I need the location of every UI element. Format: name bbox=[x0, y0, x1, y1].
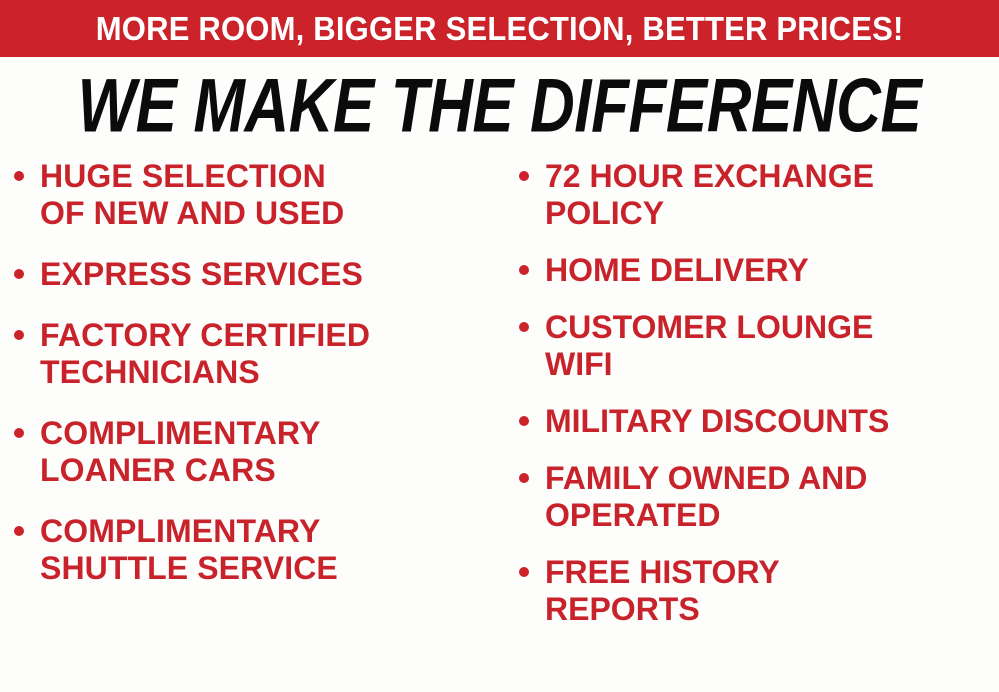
list-item-label: HOME DELIVERY bbox=[545, 252, 809, 289]
bullet-dot-icon bbox=[14, 330, 24, 340]
promo-banner: MORE ROOM, BIGGER SELECTION, BETTER PRIC… bbox=[0, 0, 999, 57]
headline-container: WE MAKE THE DIFFERENCE bbox=[0, 62, 999, 150]
bullet-dot-icon bbox=[519, 322, 529, 332]
list-item: FACTORY CERTIFIED TECHNICIANS bbox=[14, 317, 500, 391]
list-item: FAMILY OWNED AND OPERATED bbox=[519, 460, 999, 534]
list-item: COMPLIMENTARY SHUTTLE SERVICE bbox=[14, 513, 500, 587]
bullet-dot-icon bbox=[14, 428, 24, 438]
list-item-label: 72 HOUR EXCHANGE POLICY bbox=[545, 158, 874, 232]
list-item-label: CUSTOMER LOUNGE WIFI bbox=[545, 309, 873, 383]
list-item: HUGE SELECTION OF NEW AND USED bbox=[14, 158, 500, 232]
bullet-dot-icon bbox=[14, 171, 24, 181]
bullet-dot-icon bbox=[519, 171, 529, 181]
bullet-dot-icon bbox=[14, 269, 24, 279]
features-right-column: 72 HOUR EXCHANGE POLICY HOME DELIVERY CU… bbox=[500, 158, 999, 648]
list-item-label: FREE HISTORY REPORTS bbox=[545, 554, 780, 628]
bullet-dot-icon bbox=[519, 473, 529, 483]
list-item: EXPRESS SERVICES bbox=[14, 256, 500, 293]
bullet-dot-icon bbox=[519, 567, 529, 577]
list-item: 72 HOUR EXCHANGE POLICY bbox=[519, 158, 999, 232]
list-item-label: FACTORY CERTIFIED TECHNICIANS bbox=[40, 317, 370, 391]
list-item: CUSTOMER LOUNGE WIFI bbox=[519, 309, 999, 383]
list-item-label: MILITARY DISCOUNTS bbox=[545, 403, 889, 440]
features-columns: HUGE SELECTION OF NEW AND USED EXPRESS S… bbox=[0, 158, 999, 692]
list-item-label: HUGE SELECTION OF NEW AND USED bbox=[40, 158, 344, 232]
bullet-dot-icon bbox=[519, 416, 529, 426]
bullet-dot-icon bbox=[14, 526, 24, 536]
list-item-label: EXPRESS SERVICES bbox=[40, 256, 363, 293]
dealership-advertisement: MORE ROOM, BIGGER SELECTION, BETTER PRIC… bbox=[0, 0, 999, 692]
bullet-dot-icon bbox=[519, 265, 529, 275]
promo-banner-text: MORE ROOM, BIGGER SELECTION, BETTER PRIC… bbox=[96, 12, 904, 45]
features-left-column: HUGE SELECTION OF NEW AND USED EXPRESS S… bbox=[0, 158, 500, 611]
page-title: WE MAKE THE DIFFERENCE bbox=[78, 68, 922, 144]
list-item-label: COMPLIMENTARY SHUTTLE SERVICE bbox=[40, 513, 338, 587]
list-item: MILITARY DISCOUNTS bbox=[519, 403, 999, 440]
list-item-label: COMPLIMENTARY LOANER CARS bbox=[40, 415, 320, 489]
list-item: HOME DELIVERY bbox=[519, 252, 999, 289]
list-item: FREE HISTORY REPORTS bbox=[519, 554, 999, 628]
list-item: COMPLIMENTARY LOANER CARS bbox=[14, 415, 500, 489]
list-item-label: FAMILY OWNED AND OPERATED bbox=[545, 460, 867, 534]
